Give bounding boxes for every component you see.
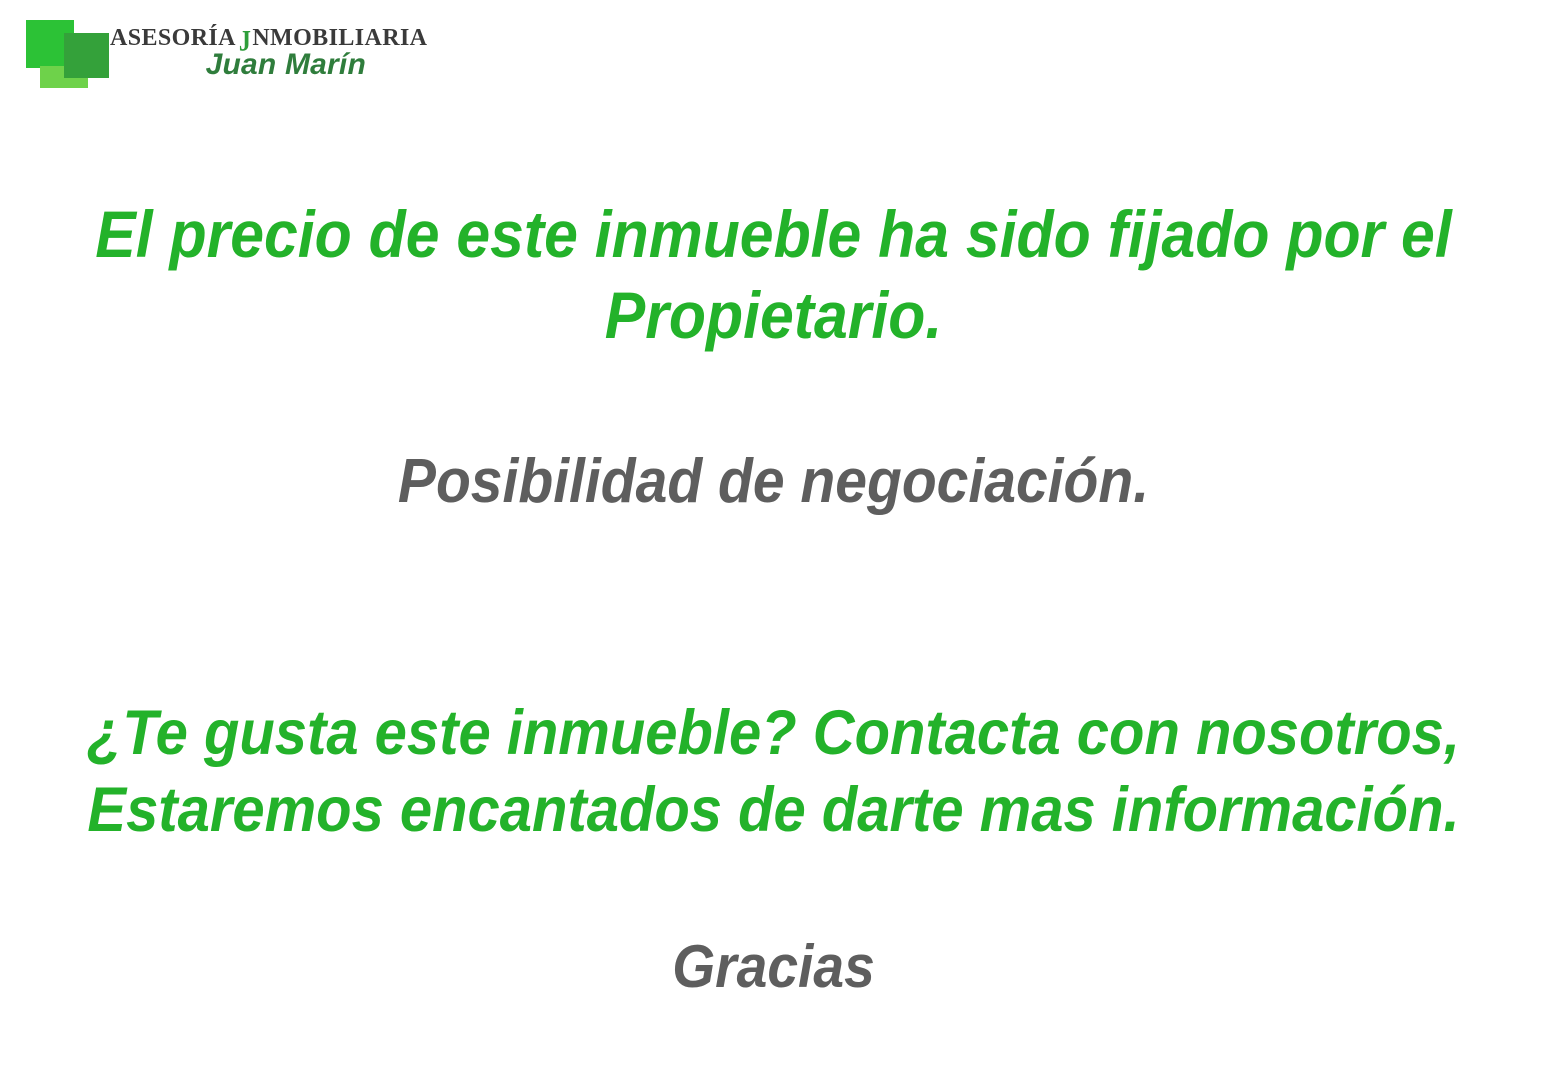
message-line-contact-1: ¿Te gusta este inmueble? Contacta con no… xyxy=(62,702,1485,765)
message-line-negotiation: Posibilidad de negociación. xyxy=(62,451,1485,513)
message-line-contact-2: Estaremos encantados de darte mas inform… xyxy=(62,779,1485,842)
message-line-thanks: Gracias xyxy=(62,937,1485,997)
slide-content: El precio de este inmueble ha sido fijad… xyxy=(0,0,1547,1080)
message-line-price-2: Propietario. xyxy=(62,282,1485,348)
message-line-price-1: El precio de este inmueble ha sido fijad… xyxy=(62,201,1485,267)
